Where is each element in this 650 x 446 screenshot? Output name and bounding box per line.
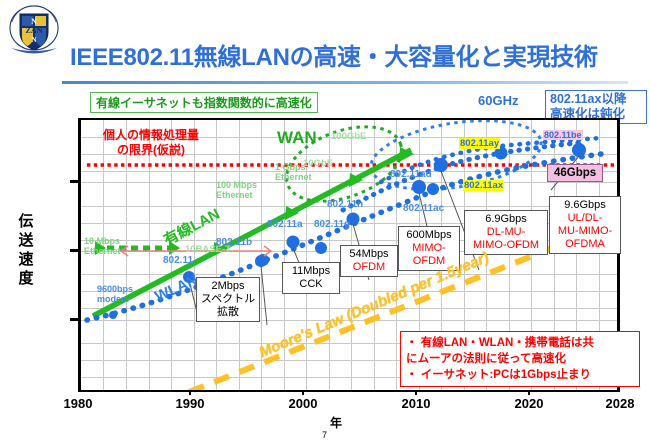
ethernet-1g-line-1: 1 Gbps	[275, 162, 306, 172]
tech-box-11mbps-rate: 11Mbps	[286, 265, 336, 278]
tech-box-54mbps: 54Mbps OFDM	[340, 245, 398, 277]
x-tick-2010: 2010	[386, 396, 446, 411]
p80211be-label: 802.11be	[543, 130, 583, 140]
ethernet-1g-line-2: Ethernet	[275, 172, 312, 182]
svg-text:ZAN: ZAN	[26, 26, 43, 35]
ethernet-10m-line-2: Ethernet	[84, 246, 121, 256]
rate-46gbps-box: 46Gbps	[547, 164, 603, 182]
summary-line-1: ・ 有線LAN・WLAN・携帯電話は共	[406, 335, 634, 351]
tech-box-2mbps: 2Mbps スペクトル 拡散	[196, 277, 260, 322]
x-tick-2000: 2000	[273, 396, 333, 411]
p80211a-label: 802.11a	[267, 220, 303, 230]
x-tick-1990: 1990	[160, 396, 220, 411]
tech-box-2mbps-tech-1: スペクトル	[200, 293, 256, 306]
tech-box-69gbps-tech-1: DL-MU-	[468, 226, 544, 239]
ethernet-10m-label: 10 Mbps Ethernet	[84, 236, 121, 256]
ethernet-100m-line-1: 100 Mbps	[216, 180, 257, 190]
summary-line-3: ・ イーサネット:PCは1Gbps止まり	[406, 367, 634, 383]
tech-box-96gbps-rate: 9.6Gbps	[553, 199, 617, 212]
modem-line-2: modem	[97, 294, 129, 304]
p80211ay-label: 802.11ay	[459, 138, 500, 149]
p80211ax-label: 802.11ax	[463, 180, 504, 191]
wan-label: WAN	[277, 128, 317, 148]
ethernet-10m-line-1: 10 Mbps	[84, 236, 120, 246]
p80211ac-label: 802.11ac	[403, 204, 444, 214]
university-logo: N ZAN N	[6, 4, 62, 56]
x-tick-2020: 2020	[499, 396, 559, 411]
p80211g-label: 802.11g	[314, 220, 350, 230]
p80211n-label: 802.11n	[327, 200, 363, 210]
tech-box-54mbps-tech-1: OFDM	[344, 261, 394, 274]
slowdown-line-1: 802.11ax以降	[550, 92, 642, 107]
gbe10-label: 10GbE	[303, 158, 333, 169]
tech-box-600mbps-rate: 600Mbps	[402, 229, 456, 242]
ethernet-100m-line-2: Ethernet	[216, 190, 253, 200]
tech-box-96gbps-tech-3: OFDMA	[553, 238, 617, 251]
tech-box-69gbps: 6.9Gbps DL-MU- MIMO-OFDM	[464, 210, 548, 255]
page-title: IEEE802.11無線LANの高速・大容量化と実現技術	[70, 40, 630, 76]
wired-ethernet-note: 有線イーサネットも指数関数的に高速化	[90, 92, 318, 113]
tech-box-600mbps-tech-1: MIMO-	[402, 242, 456, 255]
tech-box-69gbps-rate: 6.9Gbps	[468, 213, 544, 226]
gbe100-label: 100GbE	[331, 131, 366, 142]
x-axis-title: 年	[330, 414, 342, 431]
tech-box-11mbps: 11Mbps CCK	[282, 262, 340, 294]
summary-line-2: にムーアの法則に従って高速化	[406, 351, 634, 367]
tech-box-2mbps-rate: 2Mbps	[200, 280, 256, 293]
page-number: 7	[322, 430, 327, 440]
sixty-ghz-label: 60GHz	[478, 93, 518, 108]
p80211b-label: 802.11b	[216, 238, 252, 248]
tech-box-2mbps-tech-2: 拡散	[200, 306, 256, 319]
personal-limit-note: 個人の情報処理量 の限界(仮説)	[103, 128, 199, 158]
y-axis-title: 伝送速度	[16, 212, 36, 288]
tech-box-96gbps-tech-2: MU-MIMO-	[553, 225, 617, 238]
svg-text:N: N	[31, 17, 37, 26]
tech-box-54mbps-rate: 54Mbps	[344, 248, 394, 261]
modem-line-1: 9600bps	[97, 284, 133, 294]
p80211ad-label: 802.11ad	[390, 170, 432, 180]
ethernet-100m-label: 100 Mbps Ethernet	[216, 180, 257, 200]
title-divider	[62, 81, 628, 84]
x-tick-1980: 1980	[48, 396, 108, 411]
svg-text:N: N	[31, 36, 36, 44]
personal-limit-line-2: の限界(仮説)	[117, 143, 185, 157]
tech-box-96gbps-tech-1: UL/DL-	[553, 212, 617, 225]
summary-note-box: ・ 有線LAN・WLAN・携帯電話は共 にムーアの法則に従って高速化 ・ イーサ…	[400, 331, 640, 387]
tech-box-96gbps: 9.6Gbps UL/DL- MU-MIMO- OFDMA	[549, 196, 621, 254]
x-tick-2028: 2028	[590, 396, 650, 411]
modem-label: 9600bps modem	[97, 284, 133, 304]
personal-limit-line-1: 個人の情報処理量	[103, 128, 199, 142]
tech-box-11mbps-tech-1: CCK	[286, 278, 336, 291]
p80211-label: 802.11	[163, 256, 193, 266]
